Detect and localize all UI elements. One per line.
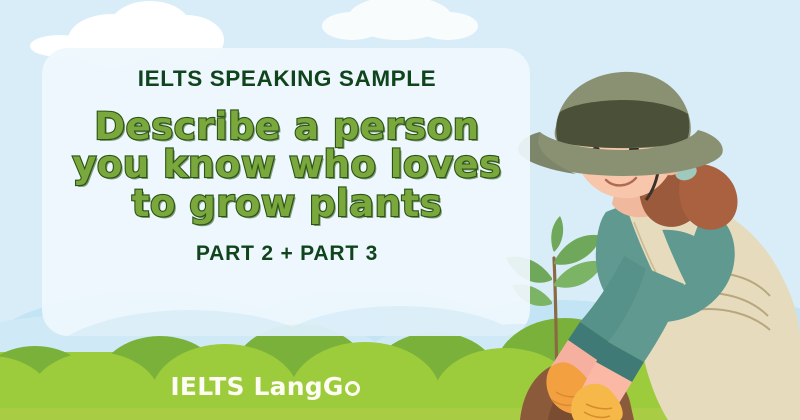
poster: IELTS SPEAKING SAMPLE Describe a person …	[0, 0, 800, 420]
brand-name: IELTS LangG	[170, 372, 343, 401]
poster-illustration	[0, 0, 800, 420]
brand-o-ring-icon	[345, 381, 360, 396]
brand-logo: IELTS LangG	[0, 372, 530, 401]
